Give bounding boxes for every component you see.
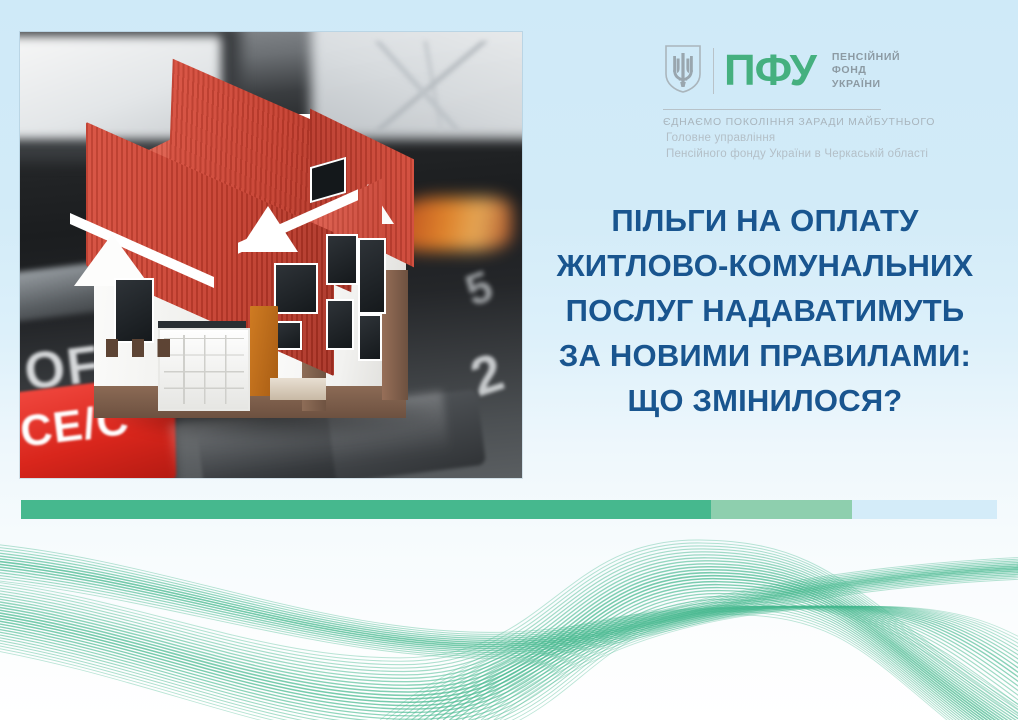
logo-slogan: ЄДНАЄМО ПОКОЛІННЯ ЗАРАДИ МАЙБУТНЬОГО [663, 116, 963, 128]
gable-middle [238, 206, 298, 252]
department-name: Головне управління Пенсійного фонду Укра… [666, 131, 928, 162]
basement-vents [106, 339, 174, 357]
window-front-upper [274, 263, 318, 314]
pfu-logo-row: ПФУ ПЕНСІЙНИЙ ФОНД УКРАЇНИ [663, 42, 963, 100]
color-bar-segment-green [21, 500, 711, 519]
window-right-lower-2 [358, 314, 382, 361]
window-front-lower [274, 321, 302, 350]
logo-divider [713, 48, 714, 94]
pfu-word-2: ФОНД [832, 64, 900, 78]
title-line-3: ПОСЛУГ НАДАВАТИМУТЬ [532, 288, 998, 333]
pfu-acronym: ПФУ [724, 49, 816, 93]
title-line-5: ЩО ЗМІНИЛОСЯ? [532, 378, 998, 423]
garage-door-panels [164, 335, 243, 405]
title-line-4: ЗА НОВИМИ ПРАВИЛАМИ: [532, 333, 998, 378]
window-left-upper [114, 278, 154, 343]
poster-canvas: OF 5 2 CE/C [0, 0, 1018, 720]
color-bar-segment-light-blue [852, 500, 997, 519]
department-line-1: Головне управління [666, 131, 928, 147]
department-line-2: Пенсійного фонду України в Черкаській об… [666, 147, 928, 163]
window-right-lower-1 [326, 299, 354, 350]
title-line-2: ЖИТЛОВО-КОМУНАЛЬНИХ [532, 243, 998, 288]
accent-color-bar [21, 500, 997, 519]
porch-steps [270, 378, 326, 400]
wave-decoration [0, 522, 1018, 720]
title-line-1: ПІЛЬГИ НА ОПЛАТУ [532, 198, 998, 243]
tryzub-icon [663, 44, 703, 99]
window-right-upper-2 [358, 238, 386, 314]
window-right-upper-1 [326, 234, 358, 285]
pfu-word-1: ПЕНСІЙНИЙ [832, 51, 900, 65]
house-photo: OF 5 2 CE/C [20, 32, 522, 478]
color-bar-segment-light-green [711, 500, 852, 519]
logo-rule [663, 109, 881, 110]
house-model [62, 76, 462, 436]
poster-title: ПІЛЬГИ НА ОПЛАТУ ЖИТЛОВО-КОМУНАЛЬНИХ ПОС… [532, 198, 998, 423]
pfu-full-name: ПЕНСІЙНИЙ ФОНД УКРАЇНИ [826, 51, 900, 92]
pfu-word-3: УКРАЇНИ [832, 78, 900, 92]
pfu-logo: ПФУ ПЕНСІЙНИЙ ФОНД УКРАЇНИ ЄДНАЄМО ПОКОЛ… [663, 42, 963, 128]
photo-content: OF 5 2 CE/C [20, 32, 522, 478]
